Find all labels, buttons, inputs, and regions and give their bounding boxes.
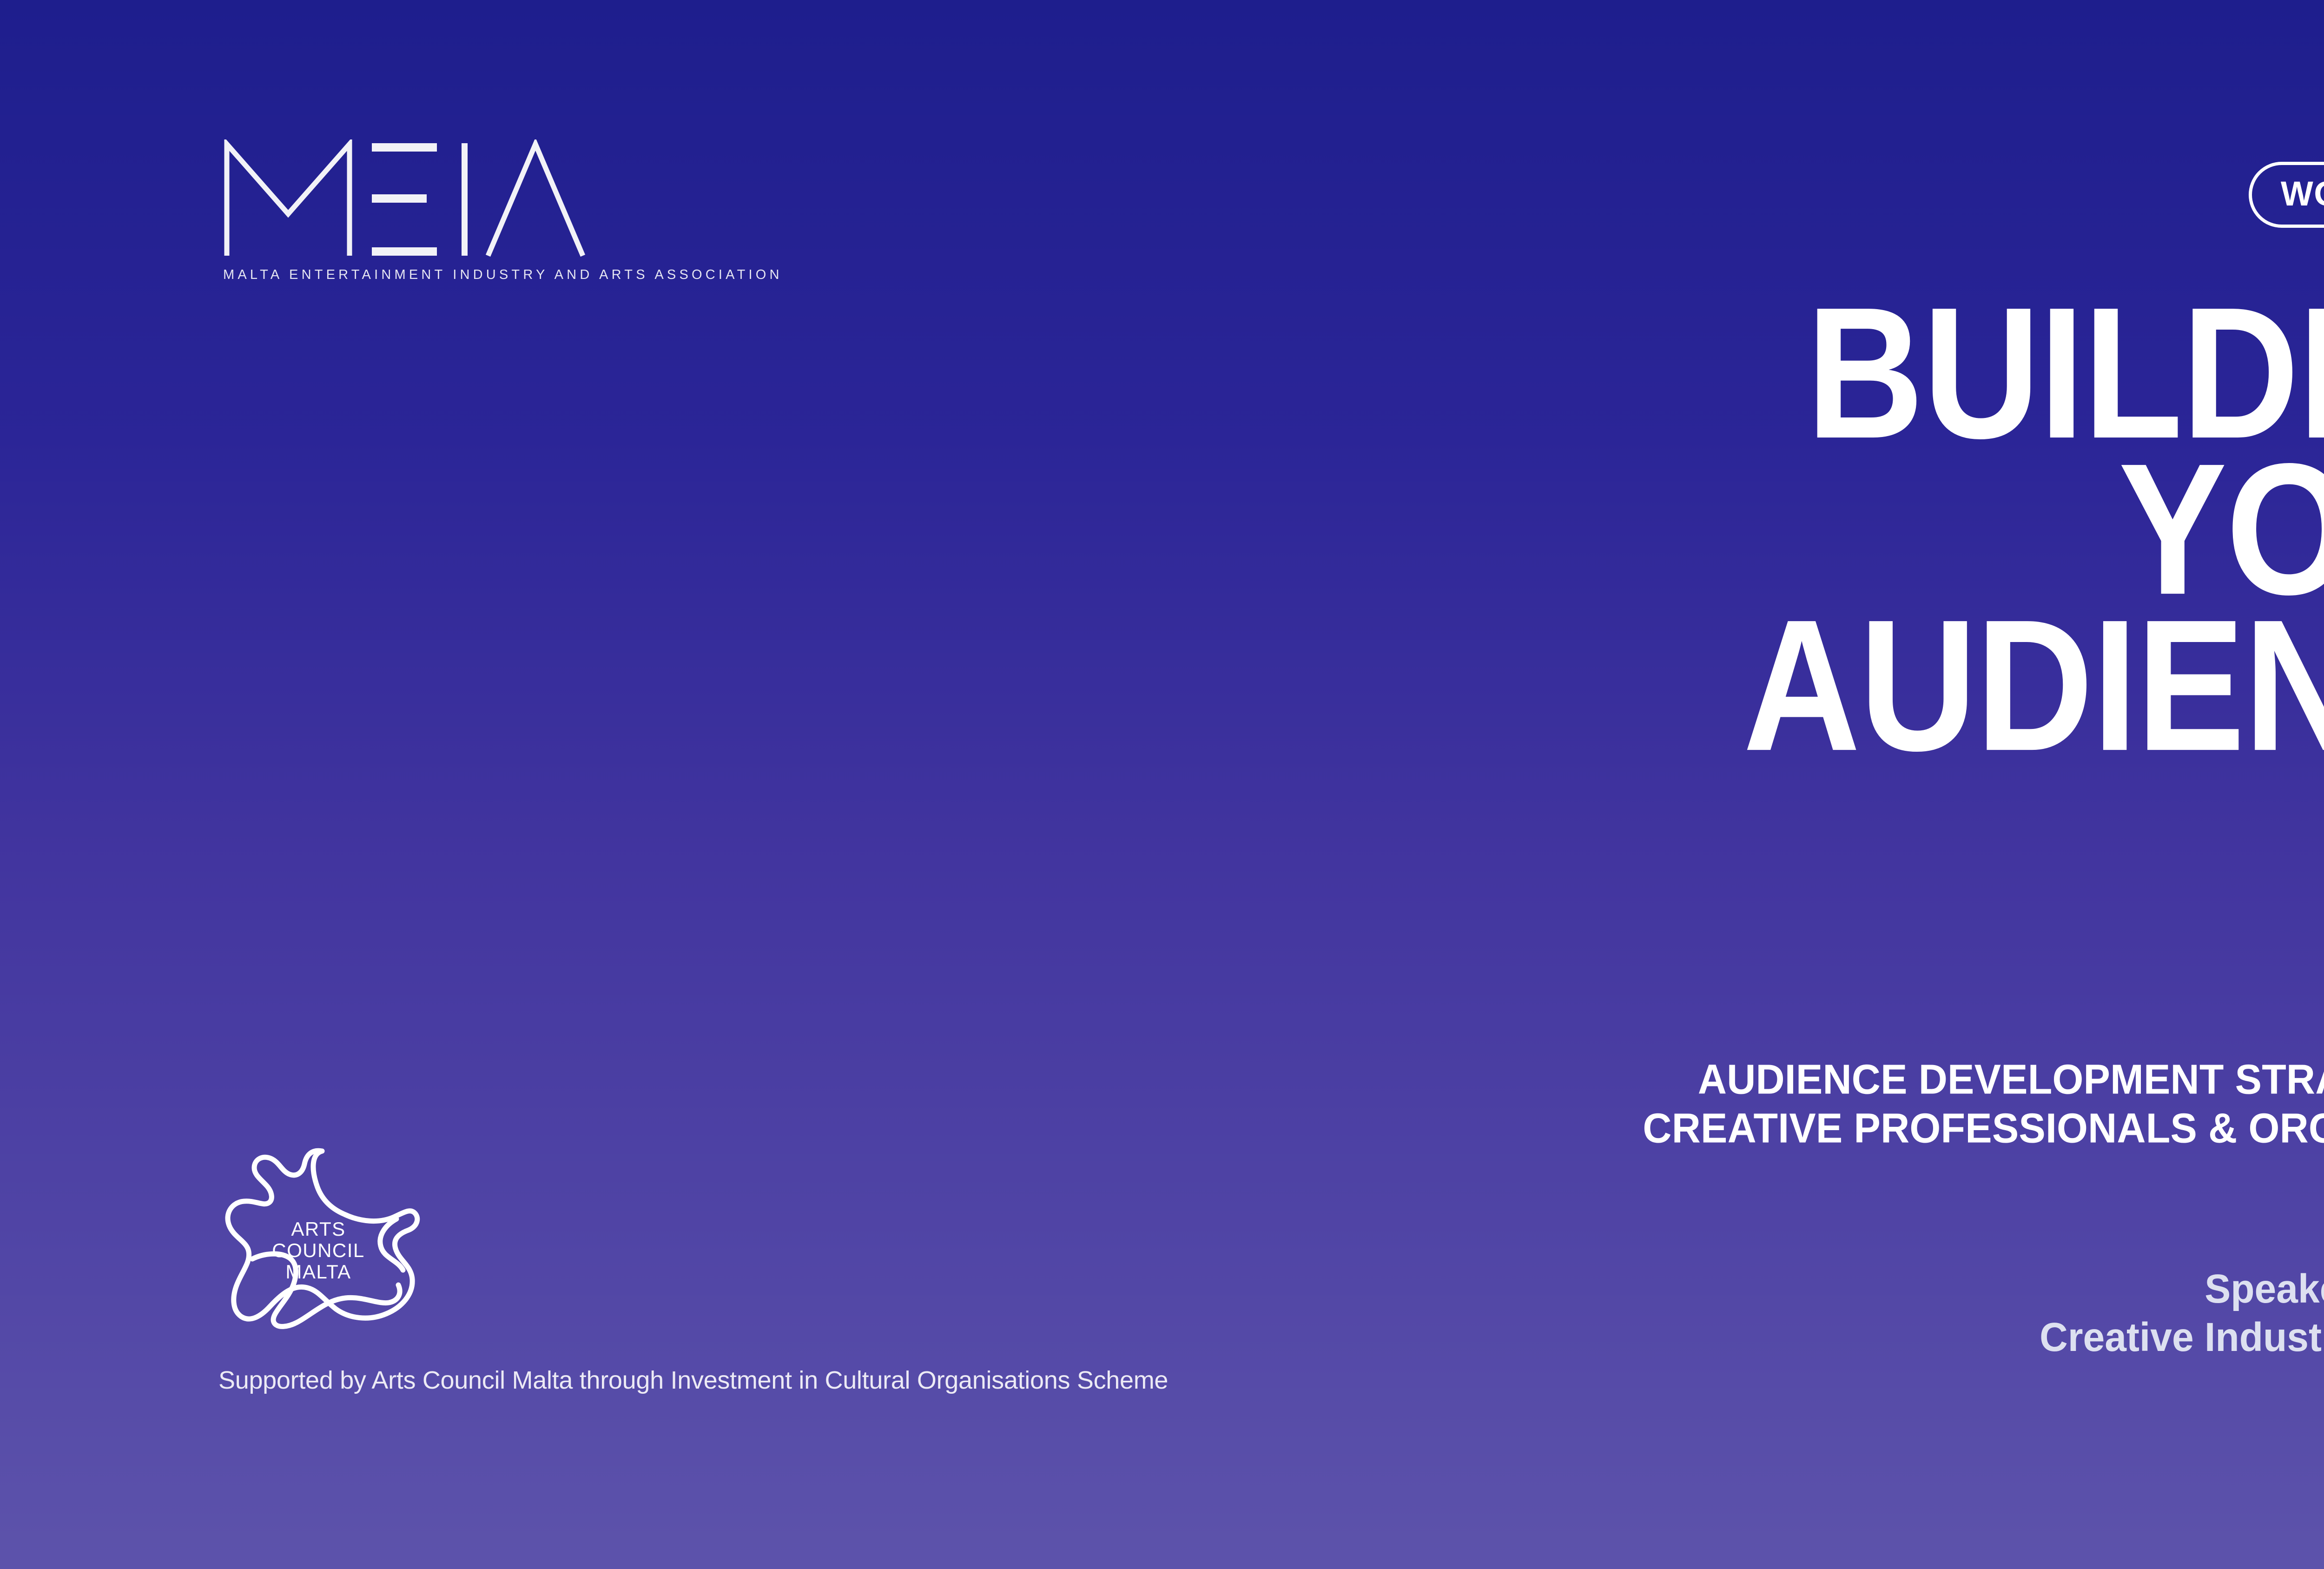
title-line-building: BUILDING <box>416 292 2324 453</box>
speaker-name: Speaker: Toni Attard <box>539 1264 2324 1314</box>
subtitle-line-2: CREATIVE PROFESSIONALS & ORGANISATIONS <box>539 1103 2324 1154</box>
subtitle: AUDIENCE DEVELOPMENT STRATEGIES FOR CREA… <box>539 1055 2324 1153</box>
workshop-badge-label: WORKSHOP 0.2 <box>2281 177 2324 211</box>
presentation-slide: MALTA ENTERTAINMENT INDUSTRY AND ARTS AS… <box>0 0 2324 1569</box>
workshop-badge: WORKSHOP 0.2 <box>2249 162 2324 228</box>
page-title: BUILDING YOUR AUDIENCE <box>539 307 2324 751</box>
arts-council-malta-logo: ARTS COUNCIL MALTA <box>211 1134 425 1334</box>
meia-logo: MALTA ENTERTAINMENT INDUSTRY AND ARTS AS… <box>218 139 600 283</box>
speaker-role: Creative Industries Specialist <box>539 1312 2324 1362</box>
support-statement: Supported by Arts Council Malta through … <box>218 1366 1168 1395</box>
acm-line-1: ARTS <box>291 1218 345 1240</box>
acm-line-2: COUNCIL <box>272 1239 365 1261</box>
speaker-credit: Speaker: Toni Attard Creative Industries… <box>539 1264 2324 1361</box>
arts-council-squiggle-icon: ARTS COUNCIL MALTA <box>211 1134 425 1334</box>
subtitle-line-1: AUDIENCE DEVELOPMENT STRATEGIES FOR <box>539 1054 2324 1105</box>
title-line-audience: AUDIENCE <box>416 604 2324 765</box>
acm-line-3: MALTA <box>285 1261 351 1283</box>
meia-wordmark-icon <box>218 139 590 258</box>
meia-tagline: MALTA ENTERTAINMENT INDUSTRY AND ARTS AS… <box>223 267 600 283</box>
